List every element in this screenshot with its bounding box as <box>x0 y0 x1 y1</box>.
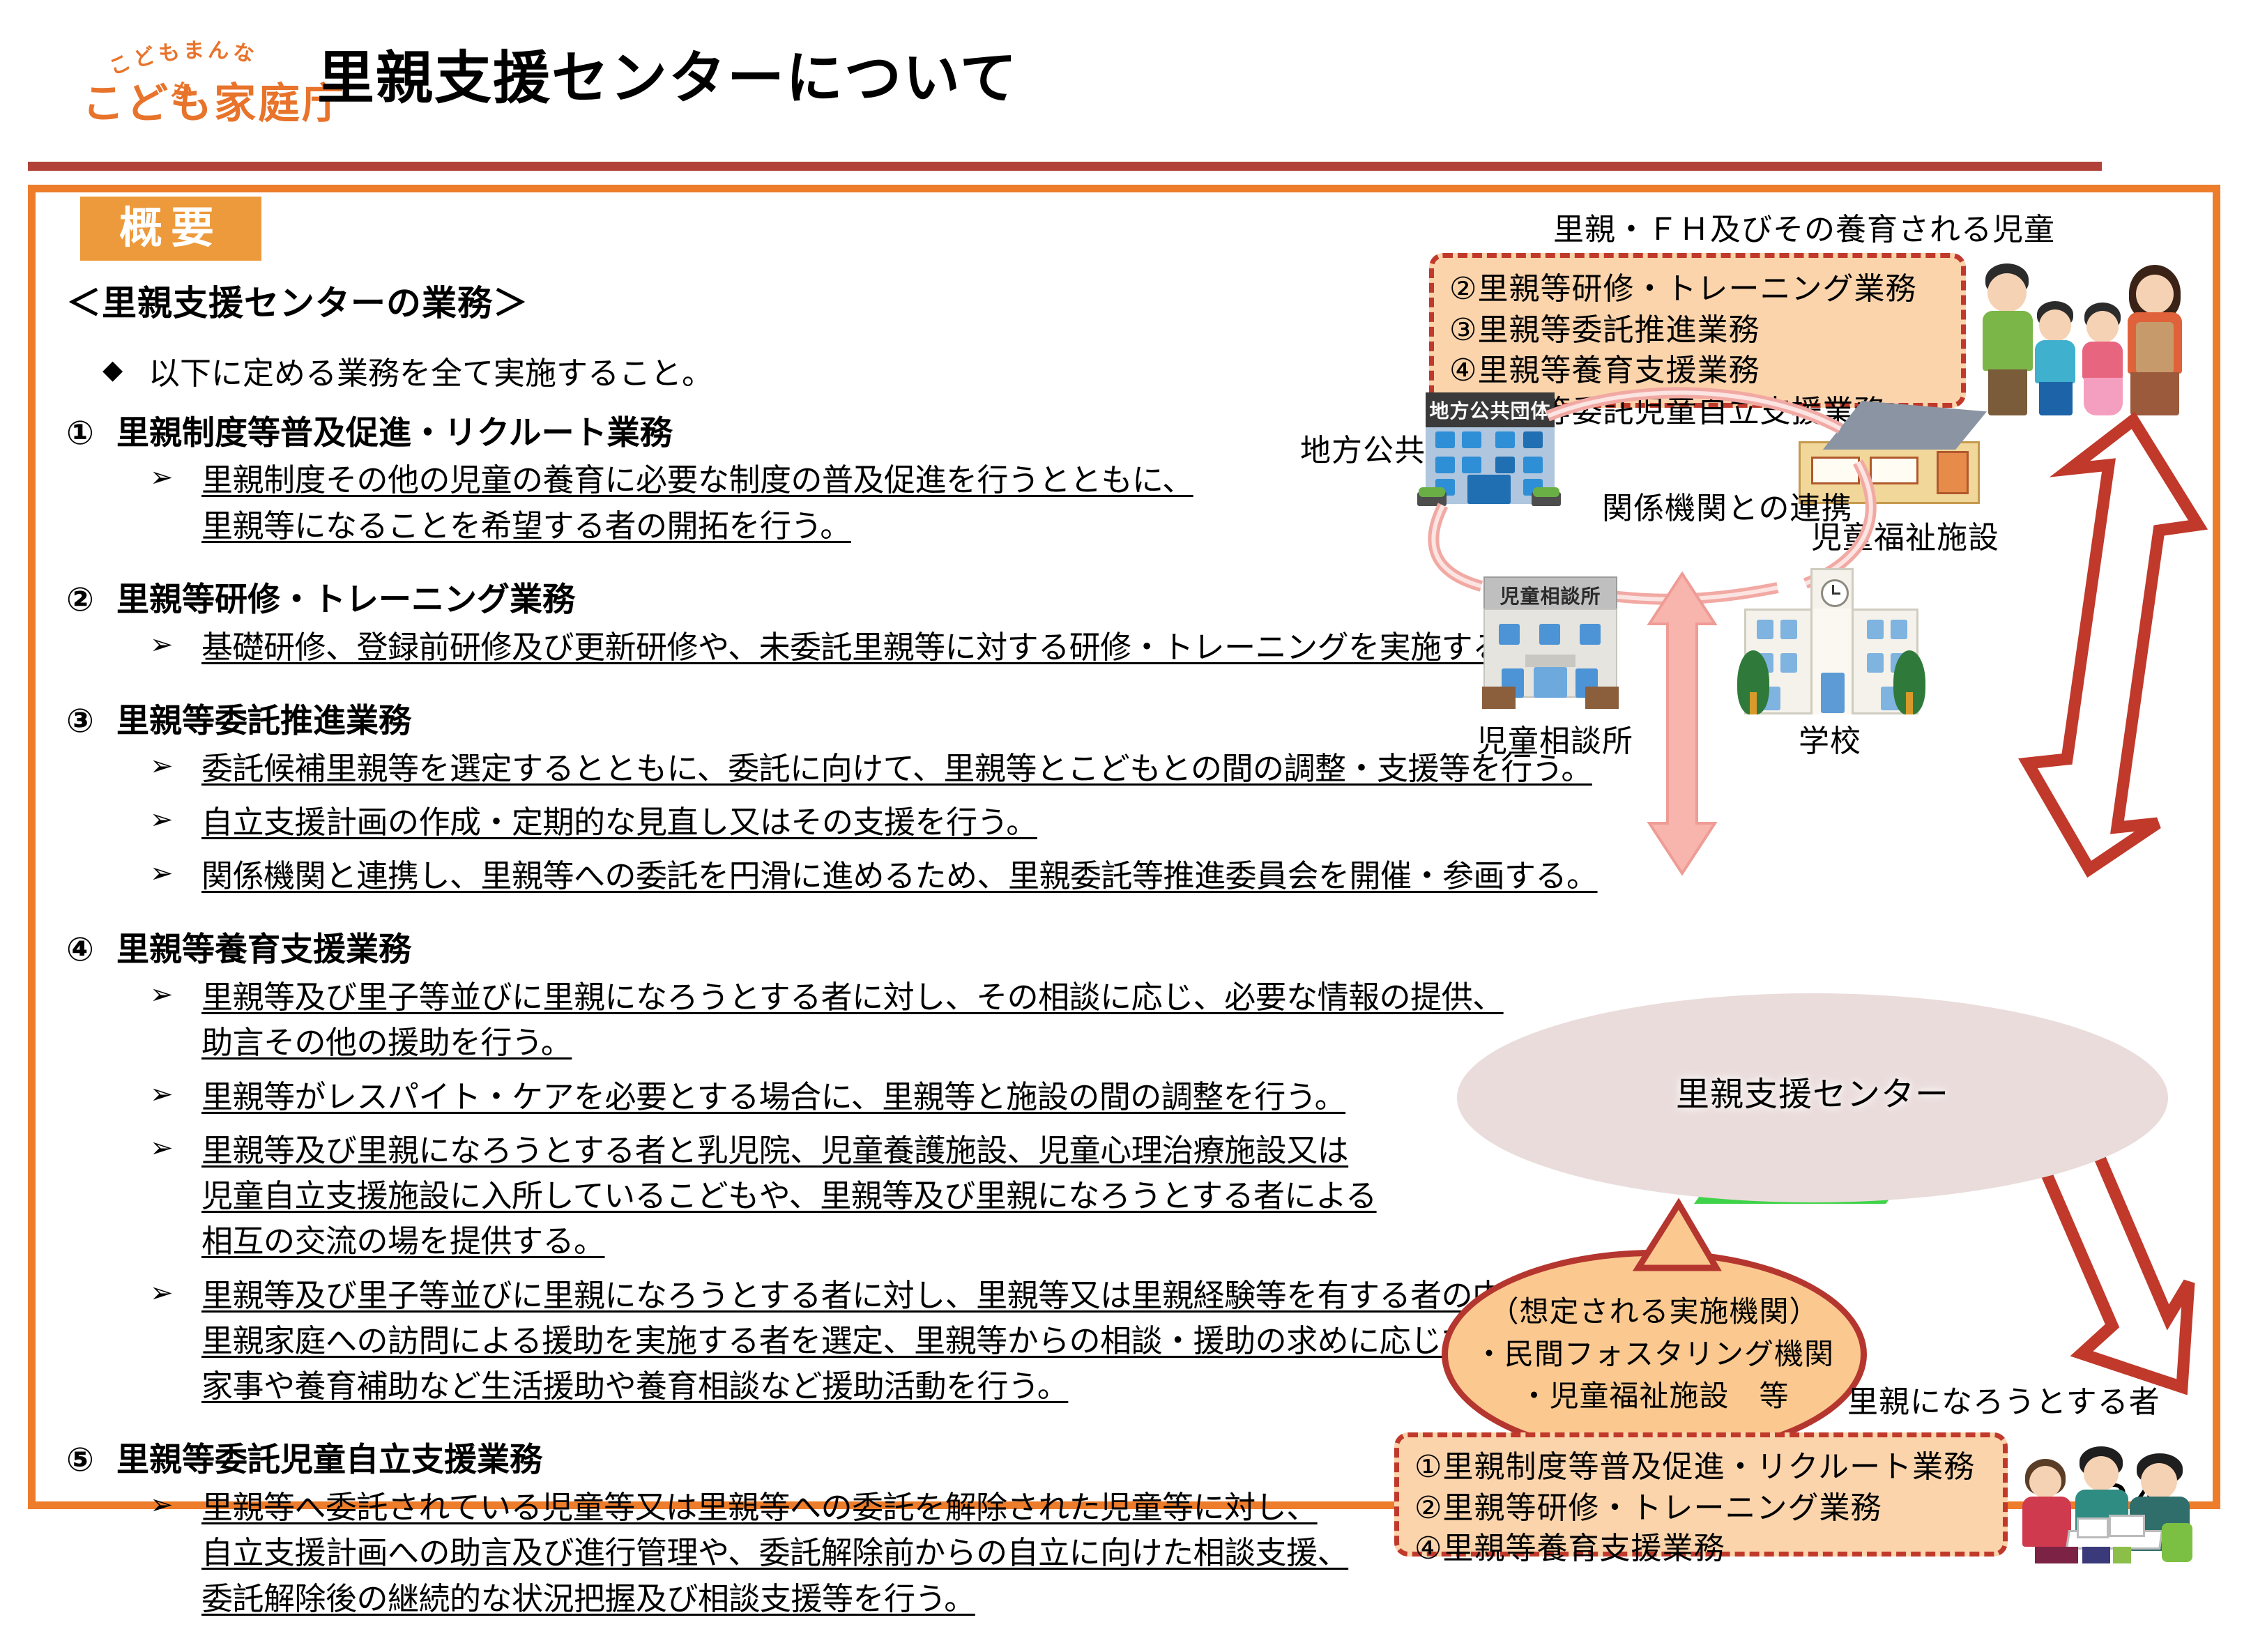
business-bullet: ➢里親等及び里子等並びに里親になろうとする者に対し、その相談に応じ、必要な情報の… <box>150 974 1460 1066</box>
business-bullet-line: 自立支援計画の作成・定期的な見直し又はその支援を行う。 <box>201 800 1037 845</box>
business-section-heading: ③里親等委託推進業務 <box>66 701 1460 742</box>
relationship-diagram: 里親・ＦＨ及びその養育される児童 ②里親等研修・トレーニング業務 ③里親等委託推… <box>1359 192 2224 1502</box>
right-upper-double-arrow <box>2011 401 2213 889</box>
section-number-marker: ⑤ <box>66 1439 116 1481</box>
diagram-label-prospective-foster-parents: 里親になろうとする者 <box>1847 1377 2160 1421</box>
business-bullet: ➢里親等及び里親になろうとする者と乳児院、児童養護施設、児童心理治療施設又は児童… <box>150 1128 1460 1264</box>
callout-tail <box>1624 1204 1736 1280</box>
business-bullet-line: 自立支援計画への助言及び進行管理や、委託解除前からの自立に向けた相談支援、 <box>201 1530 1348 1575</box>
business-bullet: ➢里親制度その他の児童の養育に必要な制度の普及促進を行うとともに、里親等になるこ… <box>150 457 1460 549</box>
section-number-marker: ③ <box>66 701 116 742</box>
cloud-line: （想定される実施機関） <box>1448 1291 1861 1333</box>
diagram-label-foster-support-center: 里親支援センター <box>1457 1066 2168 1115</box>
business-bullet: ➢里親等へ委託されている児童等又は里親等への委託を解除された児童等に対し、自立支… <box>150 1485 1460 1621</box>
business-bullet: ➢基礎研修、登録前研修及び更新研修や、未委託里親等に対する研修・トレーニングを実… <box>150 625 1460 670</box>
section-number-marker: ② <box>66 579 116 620</box>
section-spacer <box>66 678 1460 696</box>
business-bullet: ➢里親等がレスパイト・ケアを必要とする場合に、里親等と施設の間の調整を行う。 <box>150 1074 1460 1119</box>
top-services-box: ②里親等研修・トレーニング業務 ③里親等委託推進業務 ④里親等養育支援業務 ⑤里… <box>1429 253 1966 408</box>
page-title: 里親支援センターについて <box>317 31 1018 114</box>
section-spacer <box>66 1630 1460 1648</box>
section-spacer <box>66 557 1460 575</box>
top-box-line: ③里親等委託推進業務 <box>1449 310 1946 351</box>
bottom-box-line: ④里親等養育支援業務 <box>1414 1529 1987 1570</box>
business-bullet: ➢委託候補里親等を選定するとともに、委託に向けて、里親等とこどもとの間の調整・支… <box>150 746 1460 791</box>
arrow-bullet-icon: ➢ <box>150 1485 201 1525</box>
section-title: 里親等委託児童自立支援業務 <box>116 1439 542 1481</box>
arrow-bullet-icon: ➢ <box>150 1273 201 1313</box>
business-bullet-text: 里親等及び里子等並びに里親になろうとする者に対し、その相談に応じ、必要な情報の提… <box>201 974 1504 1066</box>
diagram-label-school: 学校 <box>1799 716 1861 760</box>
business-bullet-line: 児童自立支援施設に入所しているこどもや、里親等及び里親になろうとする者による <box>201 1173 1377 1218</box>
section-number-marker: ① <box>66 413 116 454</box>
top-box-line: ②里親等研修・トレーニング業務 <box>1449 269 1946 310</box>
section-number-marker: ④ <box>66 929 116 970</box>
cloud-line: ・児童福祉施設 等 <box>1448 1375 1861 1418</box>
arrow-bullet-icon: ➢ <box>150 1074 201 1115</box>
business-section: ①里親制度等普及促進・リクルート業務➢里親制度その他の児童の養育に必要な制度の普… <box>66 413 1460 575</box>
business-bullet-text: 里親等及び里親になろうとする者と乳児院、児童養護施設、児童心理治療施設又は児童自… <box>201 1128 1377 1264</box>
business-bullet-line: 里親制度その他の児童の養育に必要な制度の普及促進を行うとともに、 <box>201 457 1193 503</box>
arrow-bullet-icon: ➢ <box>150 1128 201 1168</box>
arrow-bullet-icon: ➢ <box>150 457 201 498</box>
business-bullet-line: 里親等になることを希望する者の開拓を行う。 <box>201 503 1193 549</box>
business-section-heading: ①里親制度等普及促進・リクルート業務 <box>66 413 1460 454</box>
section-title: 里親等研修・トレーニング業務 <box>116 579 575 620</box>
diagram-label-child-guidance-center: 児童相談所 <box>1476 716 1633 760</box>
section-title: 里親制度等普及促進・リクルート業務 <box>116 413 673 454</box>
business-bullet: ➢自立支援計画の作成・定期的な見直し又はその支援を行う。 <box>150 800 1460 845</box>
business-bullet-line: 里親等及び里親になろうとする者と乳児院、児童養護施設、児童心理治療施設又は <box>201 1128 1377 1173</box>
logo-agency-name: こども家庭庁 <box>82 70 284 130</box>
expected-implementing-bodies-callout: （想定される実施機関） ・民間フォスタリング機関 ・児童福祉施設 等 <box>1442 1250 1867 1459</box>
cloud-line: ・民間フォスタリング機関 <box>1448 1333 1861 1376</box>
header-divider <box>28 162 2102 171</box>
slide-header: こどもまんなか こども家庭庁 里親支援センターについて <box>0 0 2251 167</box>
arrow-bullet-icon: ➢ <box>150 853 201 894</box>
section-badge-overview: 概要 <box>80 197 261 261</box>
business-bullet: ➢里親等及び里子等並びに里親になろうとする者に対し、里親等又は里親経験等を有する… <box>150 1273 1460 1409</box>
business-bullet: ➢関係機関と連携し、里親等への委託を円滑に進めるため、里親委託等推進委員会を開催… <box>150 853 1460 898</box>
top-box-line: ④里親等養育支援業務 <box>1449 351 1946 392</box>
business-section: ②里親等研修・トレーニング業務➢基礎研修、登録前研修及び更新研修や、未委託里親等… <box>66 579 1460 696</box>
business-section: ③里親等委託推進業務➢委託候補里親等を選定するとともに、委託に向けて、里親等とこ… <box>66 701 1460 926</box>
prospective-parents-illustration <box>2025 1439 2206 1565</box>
diamond-marker-icon: ◆ <box>102 353 148 388</box>
school-building-icon <box>1744 568 1918 714</box>
kodomo-katei-cho-logo: こどもまんなか こども家庭庁 <box>82 33 284 128</box>
business-bullet-line: 里親等がレスパイト・ケアを必要とする場合に、里親等と施設の間の調整を行う。 <box>201 1074 1345 1119</box>
section-title: 里親等養育支援業務 <box>116 929 411 970</box>
foster-family-illustration <box>1980 258 2203 418</box>
bottom-box-line: ①里親制度等普及促進・リクルート業務 <box>1414 1447 1987 1488</box>
arrow-bullet-icon: ➢ <box>150 800 201 840</box>
bottom-services-box: ①里親制度等普及促進・リクルート業務 ②里親等研修・トレーニング業務 ④里親等養… <box>1394 1432 2008 1557</box>
business-bullet-text: 里親制度その他の児童の養育に必要な制度の普及促進を行うとともに、里親等になること… <box>201 457 1193 549</box>
business-bullet-text: 自立支援計画の作成・定期的な見直し又はその支援を行う。 <box>201 800 1037 845</box>
business-bullet-text: 基礎研修、登録前研修及び更新研修や、未委託里親等に対する研修・トレーニングを実施… <box>201 625 1534 670</box>
section-title: 里親等委託推進業務 <box>116 701 411 742</box>
business-section: ⑤里親等委託児童自立支援業務➢里親等へ委託されている児童等又は里親等への委託を解… <box>66 1439 1460 1648</box>
section-spacer <box>66 1417 1460 1435</box>
child-guidance-center-building-icon: 児童相談所 <box>1483 576 1617 709</box>
business-bullet-text: 里親等がレスパイト・ケアを必要とする場合に、里親等と施設の間の調整を行う。 <box>201 1074 1345 1119</box>
business-bullet-text: 里親等へ委託されている児童等又は里親等への委託を解除された児童等に対し、自立支援… <box>201 1485 1348 1621</box>
business-bullet-line: 相互の交流の場を提供する。 <box>201 1218 1377 1264</box>
lead-statement-text: 以下に定める業務を全て実施すること。 <box>148 353 713 395</box>
business-section-heading: ④里親等養育支援業務 <box>66 929 1460 970</box>
left-heading: ＜里親支援センターの業務＞ <box>66 275 1460 326</box>
business-list-panel: ＜里親支援センターの業務＞ ◆ 以下に定める業務を全て実施すること。 ①里親制度… <box>66 275 1460 1652</box>
center-vertical-double-arrow <box>1637 574 1727 873</box>
bottom-box-line: ②里親等研修・トレーニング業務 <box>1414 1488 1987 1529</box>
arrow-bullet-icon: ➢ <box>150 746 201 786</box>
lead-statement: ◆ 以下に定める業務を全て実施すること。 <box>102 353 1460 395</box>
business-bullet-line: 基礎研修、登録前研修及び更新研修や、未委託里親等に対する研修・トレーニングを実施… <box>201 625 1534 670</box>
business-section-heading: ②里親等研修・トレーニング業務 <box>66 579 1460 620</box>
business-bullet-line: 助言その他の援助を行う。 <box>201 1020 1504 1065</box>
business-bullet-line: 里親等及び里子等並びに里親になろうとする者に対し、その相談に応じ、必要な情報の提… <box>201 974 1504 1020</box>
diagram-label-foster-family-caption: 里親・ＦＨ及びその養育される児童 <box>1553 204 2055 249</box>
business-bullet-line: 委託解除後の継続的な状況把握及び相談支援等を行う。 <box>201 1576 1348 1621</box>
business-section-heading: ⑤里親等委託児童自立支援業務 <box>66 1439 1460 1481</box>
arrow-bullet-icon: ➢ <box>150 974 201 1015</box>
business-section: ④里親等養育支援業務➢里親等及び里子等並びに里親になろうとする者に対し、その相談… <box>66 929 1460 1435</box>
logo-tagline: こどもまんなか <box>96 31 271 75</box>
business-bullet-line: 里親等へ委託されている児童等又は里親等への委託を解除された児童等に対し、 <box>201 1485 1348 1530</box>
section-spacer <box>66 907 1460 925</box>
arrow-bullet-icon: ➢ <box>150 625 201 665</box>
